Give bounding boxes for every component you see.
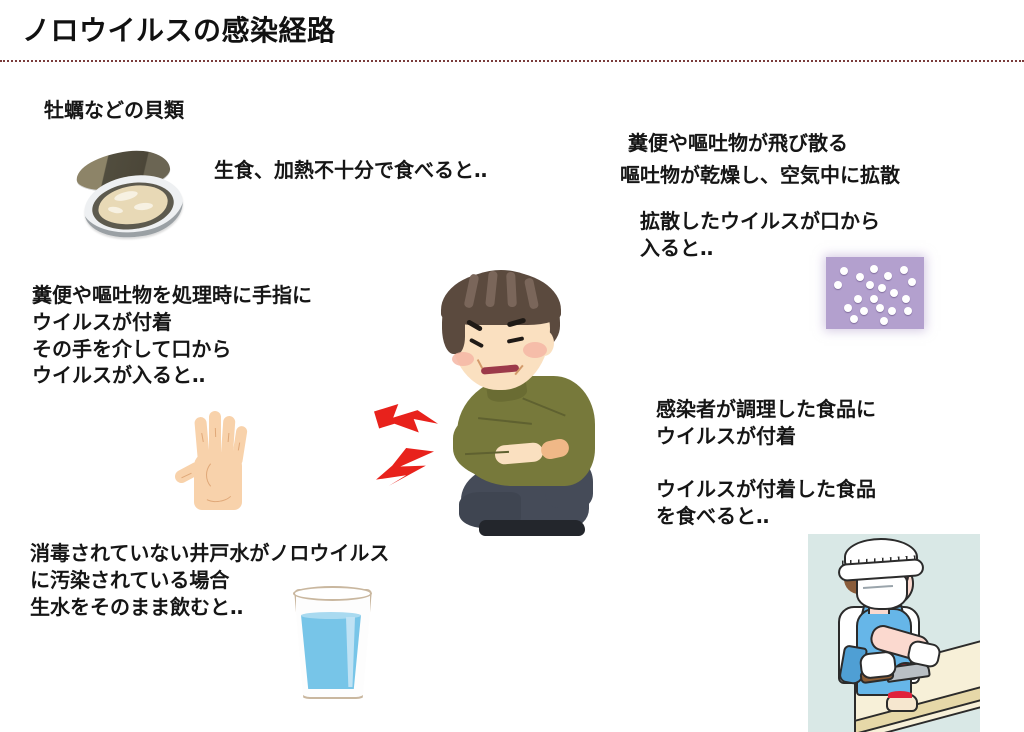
shellfish-label: 牡蠣などの貝類 xyxy=(44,98,184,125)
virus-dot xyxy=(878,284,886,292)
glass-rim xyxy=(293,586,372,601)
virus-dot xyxy=(850,315,858,323)
open-hand-illustration xyxy=(152,404,278,512)
tomato-slice-top xyxy=(888,691,912,698)
page-title: ノロウイルスの感染経路 xyxy=(22,9,336,49)
virus-dot xyxy=(844,304,852,312)
virus-dot xyxy=(904,307,912,315)
oyster-illustration xyxy=(68,143,198,248)
virus-dot xyxy=(880,317,888,325)
food-handler-text-b: ウイルスが付着した食品 を食べると‥ xyxy=(656,477,876,531)
virus-dot xyxy=(890,289,898,297)
virus-dot xyxy=(902,295,910,303)
title-divider xyxy=(0,60,1024,62)
virus-dot xyxy=(888,307,896,315)
airborne-line-1: 糞便や嘔吐物が飛び散る xyxy=(628,131,848,158)
water-glass-illustration xyxy=(288,585,374,698)
virus-particles-illustration xyxy=(826,257,924,329)
virus-dot xyxy=(866,281,874,289)
virus-dot xyxy=(908,278,916,286)
virus-dot xyxy=(840,267,848,275)
worker-glove xyxy=(859,650,898,680)
sick-person-stomach-ache-illustration xyxy=(395,268,595,543)
virus-dot xyxy=(860,307,868,315)
virus-dot xyxy=(834,281,842,289)
virus-dot xyxy=(900,266,908,274)
hand-route-text: 糞便や嘔吐物を処理時に手指に ウイルスが付着 その手を介して口から ウイルスが入… xyxy=(32,283,312,390)
hair-strand xyxy=(506,272,517,307)
virus-dot xyxy=(856,273,864,281)
person-foot xyxy=(479,520,585,536)
virus-dot xyxy=(876,304,884,312)
tomato xyxy=(936,678,963,695)
food-handler-text-a: 感染者が調理した食品に ウイルスが付着 xyxy=(656,397,876,451)
virus-dot xyxy=(870,295,878,303)
food-worker-illustration xyxy=(808,534,980,732)
face-blush xyxy=(452,352,474,366)
airborne-line-3: 拡散したウイルスが口から 入ると‥ xyxy=(640,209,880,263)
virus-dot xyxy=(884,272,892,280)
person-sideburn xyxy=(442,302,465,354)
face-blush xyxy=(523,342,547,358)
shellfish-caption: 生食、加熱不十分で食べると‥ xyxy=(214,158,487,185)
virus-dot xyxy=(854,295,862,303)
airborne-line-2: 嘔吐物が乾燥し、空気中に拡散 xyxy=(620,163,900,190)
virus-dot xyxy=(870,265,878,273)
